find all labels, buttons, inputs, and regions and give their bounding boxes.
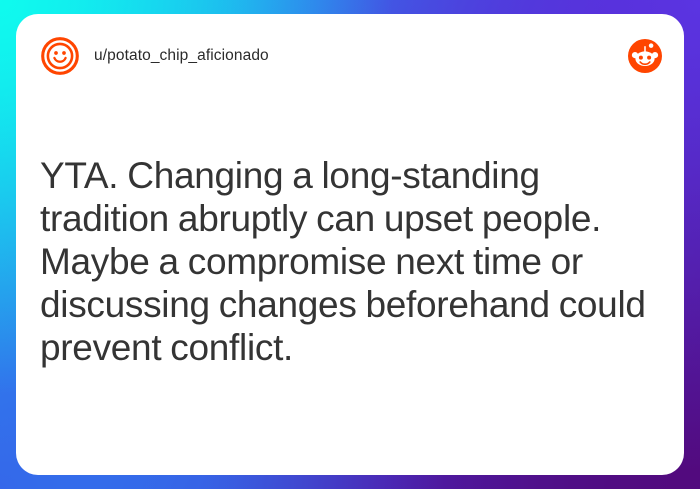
- smiley-face-avatar-icon: [40, 36, 80, 76]
- card-header: u/potato_chip_aficionado: [16, 14, 684, 98]
- username-label: u/potato_chip_aficionado: [94, 47, 269, 65]
- reddit-comment-card: u/potato_chip_aficionado: [16, 14, 684, 475]
- reddit-snoo-logo-icon[interactable]: [628, 39, 662, 73]
- gradient-background: u/potato_chip_aficionado: [0, 0, 700, 489]
- comment-text: YTA. Changing a long-standing tradition …: [40, 154, 666, 369]
- card-body: YTA. Changing a long-standing tradition …: [40, 154, 666, 369]
